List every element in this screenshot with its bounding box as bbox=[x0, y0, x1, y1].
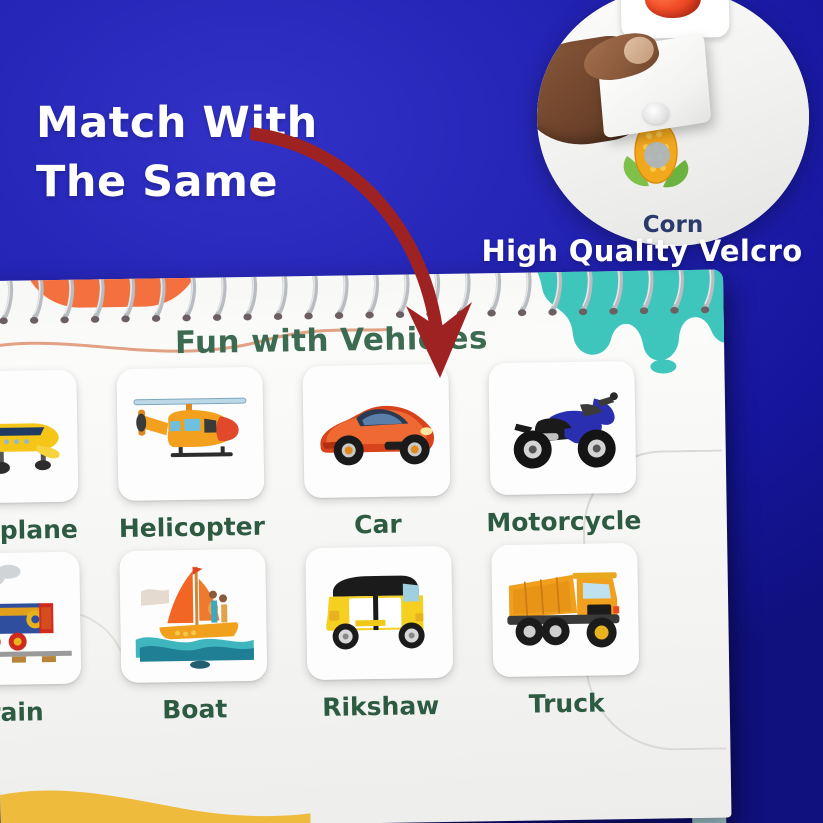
card-truck[interactable] bbox=[491, 543, 639, 677]
grid-cell: Truck bbox=[478, 543, 653, 720]
tomato-icon bbox=[645, 0, 702, 19]
boat-icon bbox=[128, 560, 258, 672]
rikshaw-icon bbox=[314, 557, 444, 669]
card-label-train: Train bbox=[0, 696, 95, 728]
grid-cell: Boat bbox=[106, 549, 281, 726]
car-icon bbox=[312, 375, 442, 487]
card-label-rikshaw: Rikshaw bbox=[295, 691, 467, 723]
card-label-truck: Truck bbox=[480, 688, 652, 720]
card-label-motorcycle: Motorcycle bbox=[478, 506, 650, 538]
motorcycle-icon bbox=[498, 372, 628, 484]
inset-circle: Corn bbox=[537, 0, 809, 246]
card-rikshaw[interactable] bbox=[305, 546, 453, 680]
train-icon bbox=[0, 563, 72, 675]
grid-cell: Helicopter bbox=[103, 367, 278, 544]
grid-cell: Aeroplane bbox=[0, 369, 92, 546]
card-helicopter[interactable] bbox=[116, 367, 264, 501]
grid-cell: Train bbox=[0, 551, 95, 728]
card-motorcycle[interactable] bbox=[488, 361, 636, 495]
grid-cell: Rikshaw bbox=[292, 546, 467, 723]
card-label-helicopter: Helicopter bbox=[106, 512, 278, 544]
card-boat[interactable] bbox=[119, 549, 267, 683]
truck-icon bbox=[500, 554, 630, 666]
card-label-aeroplane: Aeroplane bbox=[0, 514, 92, 546]
velcro-dot bbox=[643, 103, 669, 124]
card-train[interactable] bbox=[0, 552, 81, 686]
curved-down-arrow-icon bbox=[250, 120, 510, 390]
aeroplane-icon bbox=[0, 381, 69, 493]
card-aeroplane[interactable] bbox=[0, 370, 78, 504]
yellow-wave-decoration bbox=[0, 772, 311, 823]
card-label-boat: Boat bbox=[109, 694, 281, 726]
vehicle-card-grid: Aeroplane bbox=[0, 360, 713, 728]
velcro-caption: High Quality Velcro bbox=[466, 234, 818, 268]
grid-cell: Car bbox=[289, 364, 464, 541]
helicopter-icon bbox=[126, 378, 256, 490]
velcro-inset: Corn bbox=[537, 0, 809, 246]
card-label-car: Car bbox=[292, 509, 464, 541]
